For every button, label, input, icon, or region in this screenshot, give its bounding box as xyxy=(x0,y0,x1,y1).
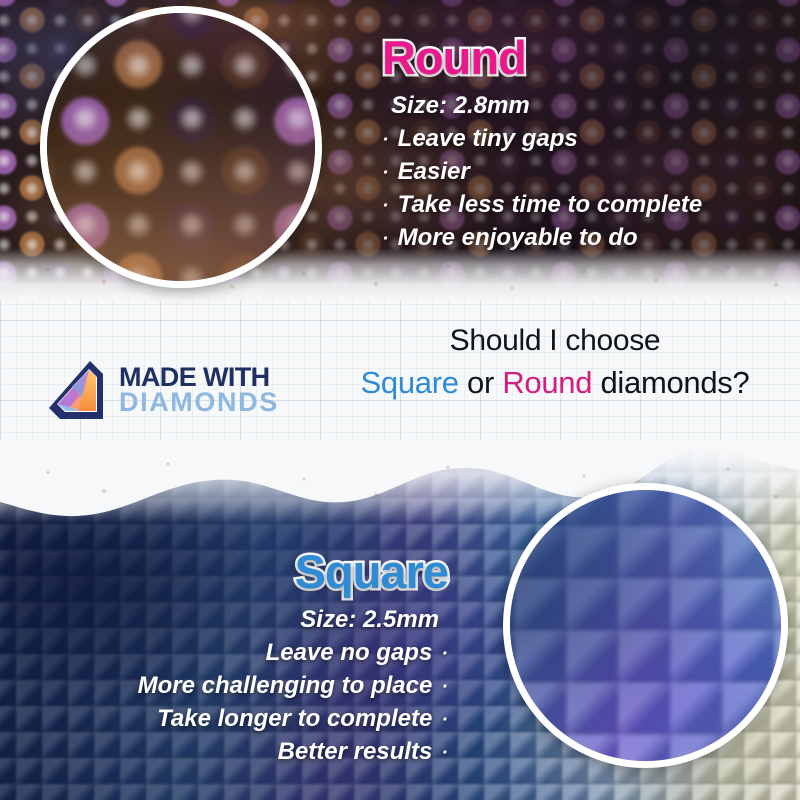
question-heading: Should I choose Square or Round diamonds… xyxy=(330,324,780,401)
list-item: Take longer to complete · xyxy=(18,703,448,736)
bullet-icon: · xyxy=(382,196,389,216)
bullet-icon: · xyxy=(382,163,389,183)
question-line-1: Should I choose xyxy=(330,324,780,358)
square-feature-text: Leave no gaps xyxy=(266,637,433,670)
list-item: Size: 2.5mm xyxy=(18,604,448,637)
bullet-icon: · xyxy=(441,710,448,730)
list-item: · Easier xyxy=(382,156,782,189)
bullet-icon: · xyxy=(441,644,448,664)
infographic-poster: Round Size: 2.8mm · Leave tiny gaps · Ea… xyxy=(0,0,800,800)
round-lens-blotches xyxy=(40,6,322,288)
square-feature-list: Size: 2.5mm Leave no gaps · More challen… xyxy=(18,604,448,768)
list-item: · More enjoyable to do xyxy=(382,222,782,255)
round-feature-text: Easier xyxy=(398,156,470,189)
square-title: Square xyxy=(18,548,448,595)
square-info-block: Square Size: 2.5mm Leave no gaps · More … xyxy=(18,548,448,768)
question-conjunction: or xyxy=(459,365,503,400)
list-item: Better results · xyxy=(18,736,448,769)
list-item: · Take less time to complete xyxy=(382,189,782,222)
round-feature-list: Size: 2.8mm · Leave tiny gaps · Easier ·… xyxy=(382,90,782,254)
diamond-gem-icon xyxy=(46,358,106,422)
brand-logo[interactable]: MADE WITH DIAMONDS xyxy=(46,358,279,422)
bullet-icon: · xyxy=(382,130,389,150)
round-feature-text: Take less time to complete xyxy=(398,189,703,222)
list-item: Size: 2.8mm xyxy=(382,90,782,123)
square-magnifier-lens xyxy=(503,483,788,768)
list-item: · Leave tiny gaps xyxy=(382,123,782,156)
round-feature-text: Size: 2.8mm xyxy=(391,90,530,123)
brand-wordmark: MADE WITH DIAMONDS xyxy=(119,365,279,415)
bullet-icon: · xyxy=(441,743,448,763)
round-feature-text: Leave tiny gaps xyxy=(398,123,578,156)
square-feature-text: Better results xyxy=(278,736,433,769)
round-info-block: Round Size: 2.8mm · Leave tiny gaps · Ea… xyxy=(382,34,782,254)
bullet-icon: · xyxy=(382,229,389,249)
keyword-square: Square xyxy=(361,365,459,400)
round-title: Round xyxy=(382,34,782,81)
brand-line-diamonds: DIAMONDS xyxy=(119,390,279,415)
round-feature-text: More enjoyable to do xyxy=(398,222,638,255)
keyword-round: Round xyxy=(502,365,592,400)
square-feature-text: More challenging to place xyxy=(138,670,433,703)
question-tail: diamonds? xyxy=(592,365,749,400)
bullet-icon: · xyxy=(441,677,448,697)
square-lens-content xyxy=(503,483,788,768)
list-item: More challenging to place · xyxy=(18,670,448,703)
question-line-2: Square or Round diamonds? xyxy=(330,365,780,401)
round-magnifier-lens xyxy=(40,6,322,288)
square-lens-blotches xyxy=(503,483,788,768)
centre-band: MADE WITH DIAMONDS Should I choose Squar… xyxy=(0,300,800,450)
round-lens-content xyxy=(40,6,322,288)
list-item: Leave no gaps · xyxy=(18,637,448,670)
square-feature-text: Size: 2.5mm xyxy=(300,604,439,637)
square-feature-text: Take longer to complete xyxy=(157,703,432,736)
